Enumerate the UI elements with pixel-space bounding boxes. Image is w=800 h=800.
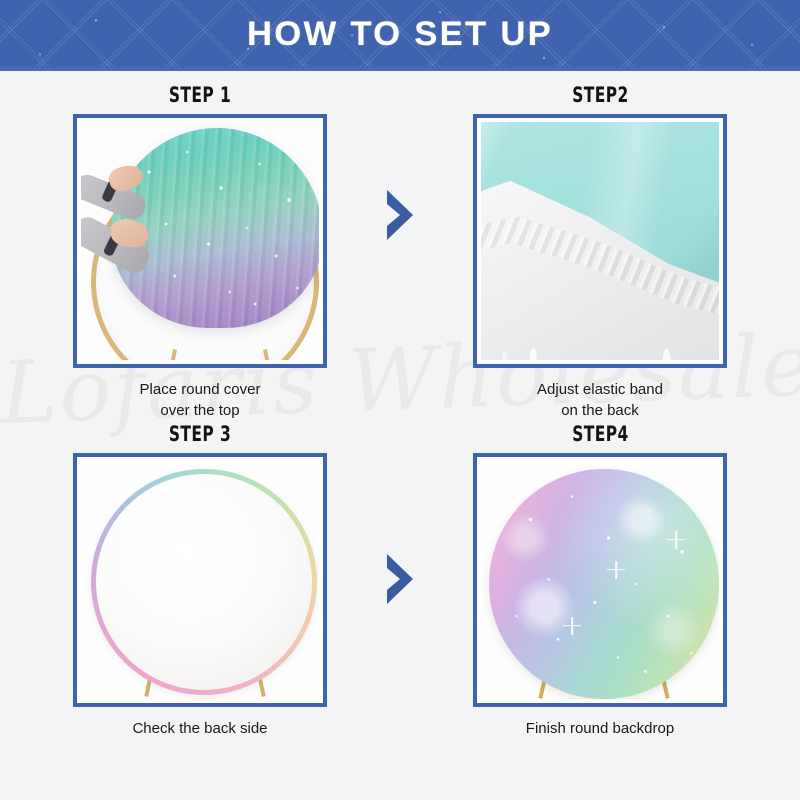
step-caption-2-line2: on the back	[537, 400, 663, 421]
photo4-finished-backdrop	[489, 469, 719, 699]
step-caption-2: Adjust elastic band on the back	[537, 379, 663, 422]
step-caption-2-line1: Adjust elastic band	[537, 379, 663, 400]
step-caption-1-line1: Place round cover	[140, 379, 261, 400]
step-card-2: STEP2 Adjust elastic band on the back	[400, 83, 800, 422]
step-caption-4-line1: Finish round backdrop	[526, 718, 674, 739]
step-label-4: STEP4	[572, 422, 629, 446]
step-label-1: STEP 1	[169, 83, 231, 107]
photo3-cover-back-side	[91, 469, 317, 695]
step-image-4	[481, 461, 719, 699]
photo4-sparkle-3	[563, 617, 581, 635]
photo4-bokeh-glow	[489, 469, 719, 699]
step-caption-1-line2: over the top	[140, 400, 261, 421]
step-image-frame-1	[73, 114, 327, 368]
step-card-1: STEP 1 Place round cov	[0, 83, 400, 422]
photo3-white-back-face	[96, 474, 312, 690]
step-image-frame-2	[473, 114, 727, 368]
steps-grid: STEP 1 Place round cov	[0, 71, 800, 760]
photo1-stand-leg-right	[263, 349, 277, 360]
step-label-2: STEP2	[572, 83, 629, 107]
step-card-4: STEP4 Finish round backdrop	[400, 422, 800, 760]
step-image-frame-3	[73, 453, 327, 707]
photo2-drawstring-threads	[481, 300, 719, 360]
arrow-step1-to-step2	[383, 188, 417, 242]
step-image-1	[81, 122, 319, 360]
step-caption-3-line1: Check the back side	[132, 718, 267, 739]
step-card-3: STEP 3 Check the back side	[0, 422, 400, 760]
page-title: HOW TO SET UP	[247, 15, 553, 54]
step-image-3	[81, 461, 319, 699]
step-caption-4: Finish round backdrop	[526, 718, 674, 760]
photo4-sparkle-2	[667, 531, 685, 549]
step-caption-1: Place round cover over the top	[140, 379, 261, 422]
photo4-sparkle-1	[607, 561, 625, 579]
step-label-3: STEP 3	[169, 422, 231, 446]
step-image-2	[481, 122, 719, 360]
step-image-frame-4	[473, 453, 727, 707]
arrow-step3-to-step4	[383, 552, 417, 606]
page-header: HOW TO SET UP	[0, 0, 800, 68]
step-caption-3: Check the back side	[132, 718, 267, 760]
photo1-stand-leg-left	[163, 349, 177, 360]
